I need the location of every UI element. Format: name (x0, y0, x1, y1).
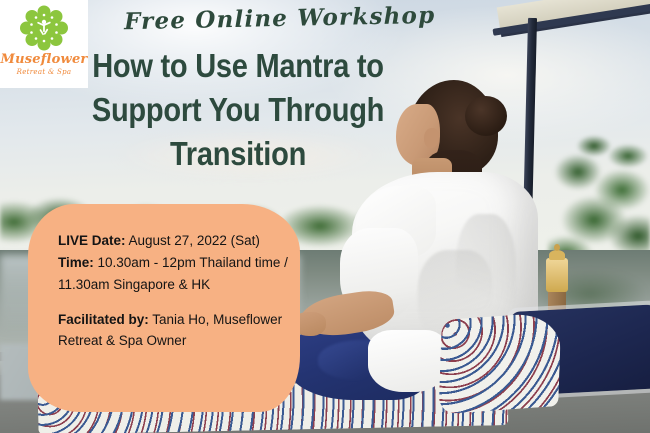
ear (424, 128, 439, 148)
date-label: LIVE Date: (58, 233, 126, 248)
logo-tagline: Retreat & Spa (17, 68, 72, 76)
workshop-poster: Museflower Retreat & Spa Free Online Wor… (0, 0, 650, 433)
paragraph-spacer (58, 296, 294, 309)
shirt-hem (368, 330, 446, 392)
time-label: Time: (58, 255, 94, 270)
event-time-line: Time: 10.30am - 12pm Thailand time / 11.… (58, 252, 294, 296)
logo-wordmark: Museflower (1, 53, 88, 66)
floral-wedge-cushion (438, 312, 561, 415)
page-title: How to Use Mantra to Support You Through… (85, 44, 391, 176)
facilitator-label: Facilitated by: (58, 312, 149, 327)
headline-line-3: Transition (85, 132, 391, 176)
event-details-text: LIVE Date: August 27, 2022 (Sat) Time: 1… (58, 230, 294, 352)
event-date-line: LIVE Date: August 27, 2022 (Sat) (58, 230, 294, 252)
hair-bun (465, 96, 507, 136)
event-details-panel: LIVE Date: August 27, 2022 (Sat) Time: 1… (28, 204, 300, 412)
headline-line-1: How to Use Mantra to (85, 44, 391, 88)
brand-logo[interactable]: Museflower Retreat & Spa (0, 0, 88, 88)
facilitator-line: Facilitated by: Tania Ho, Museflower Ret… (58, 309, 294, 353)
date-value: August 27, 2022 (Sat) (126, 233, 260, 248)
flower-person-icon (18, 4, 70, 52)
headline-line-2: Support You Through (85, 88, 391, 132)
